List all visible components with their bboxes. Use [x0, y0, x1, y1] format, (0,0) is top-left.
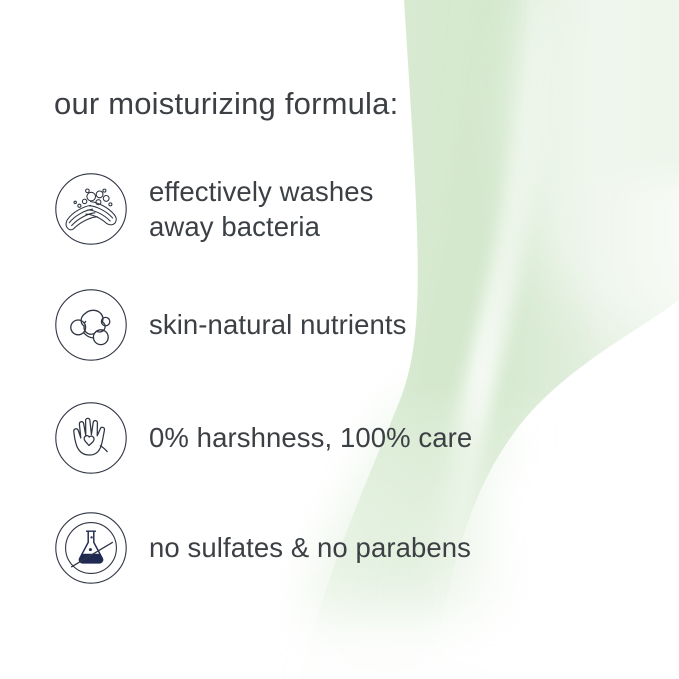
no-chemicals-flask-icon — [54, 511, 128, 585]
product-benefits-infographic: our moisturizing formula: — [0, 0, 679, 679]
washing-hands-icon — [54, 172, 128, 246]
molecule-nutrients-icon — [54, 288, 128, 362]
feature-label: 0% harshness, 100% care — [149, 420, 472, 455]
feature-row: skin-natural nutrients — [54, 288, 406, 362]
feature-row: no sulfates & no parabens — [54, 511, 471, 585]
feature-label: no sulfates & no parabens — [149, 530, 471, 565]
page-title: our moisturizing formula: — [54, 86, 398, 122]
feature-row: effectively washes away bacteria — [54, 172, 373, 246]
feature-label: skin-natural nutrients — [149, 307, 406, 342]
feature-label: effectively washes away bacteria — [149, 174, 373, 244]
feature-row: 0% harshness, 100% care — [54, 401, 472, 475]
hand-heart-icon — [54, 401, 128, 475]
